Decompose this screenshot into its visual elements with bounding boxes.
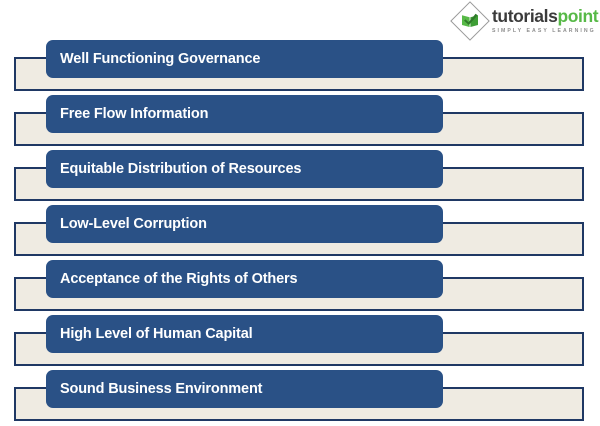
logo-word-tutorials: tutorials: [492, 6, 557, 26]
row-banner[interactable]: Well Functioning Governance: [46, 40, 443, 78]
logo-word-point: point: [557, 6, 598, 26]
logo-text-group: tutorialspoint SIMPLY EASY LEARNING: [492, 8, 598, 34]
book-check-diamond-icon: [452, 3, 488, 39]
row-banner[interactable]: Sound Business Environment: [46, 370, 443, 408]
diagram-row: Well Functioning Governance: [0, 40, 600, 95]
logo-wordmark: tutorialspoint: [492, 8, 598, 26]
diagram-row: High Level of Human Capital: [0, 315, 600, 370]
row-label: Well Functioning Governance: [46, 51, 260, 67]
row-banner[interactable]: High Level of Human Capital: [46, 315, 443, 353]
row-banner[interactable]: Acceptance of the Rights of Others: [46, 260, 443, 298]
brand-logo: tutorialspoint SIMPLY EASY LEARNING: [452, 3, 596, 39]
logo-tagline: SIMPLY EASY LEARNING: [492, 29, 598, 34]
row-label: Free Flow Information: [46, 106, 208, 122]
row-label: Equitable Distribution of Resources: [46, 161, 301, 177]
row-banner[interactable]: Low-Level Corruption: [46, 205, 443, 243]
diagram-row: Low-Level Corruption: [0, 205, 600, 260]
row-label: Low-Level Corruption: [46, 216, 207, 232]
row-label: Acceptance of the Rights of Others: [46, 271, 297, 287]
row-label: Sound Business Environment: [46, 381, 262, 397]
diagram-row: Sound Business Environment: [0, 370, 600, 425]
diagram-rows-container: Well Functioning Governance Free Flow In…: [0, 40, 600, 425]
diagram-row: Equitable Distribution of Resources: [0, 150, 600, 205]
row-banner[interactable]: Equitable Distribution of Resources: [46, 150, 443, 188]
diagram-row: Free Flow Information: [0, 95, 600, 150]
book-glyph: [461, 13, 479, 28]
diagram-row: Acceptance of the Rights of Others: [0, 260, 600, 315]
row-banner[interactable]: Free Flow Information: [46, 95, 443, 133]
row-label: High Level of Human Capital: [46, 326, 253, 342]
